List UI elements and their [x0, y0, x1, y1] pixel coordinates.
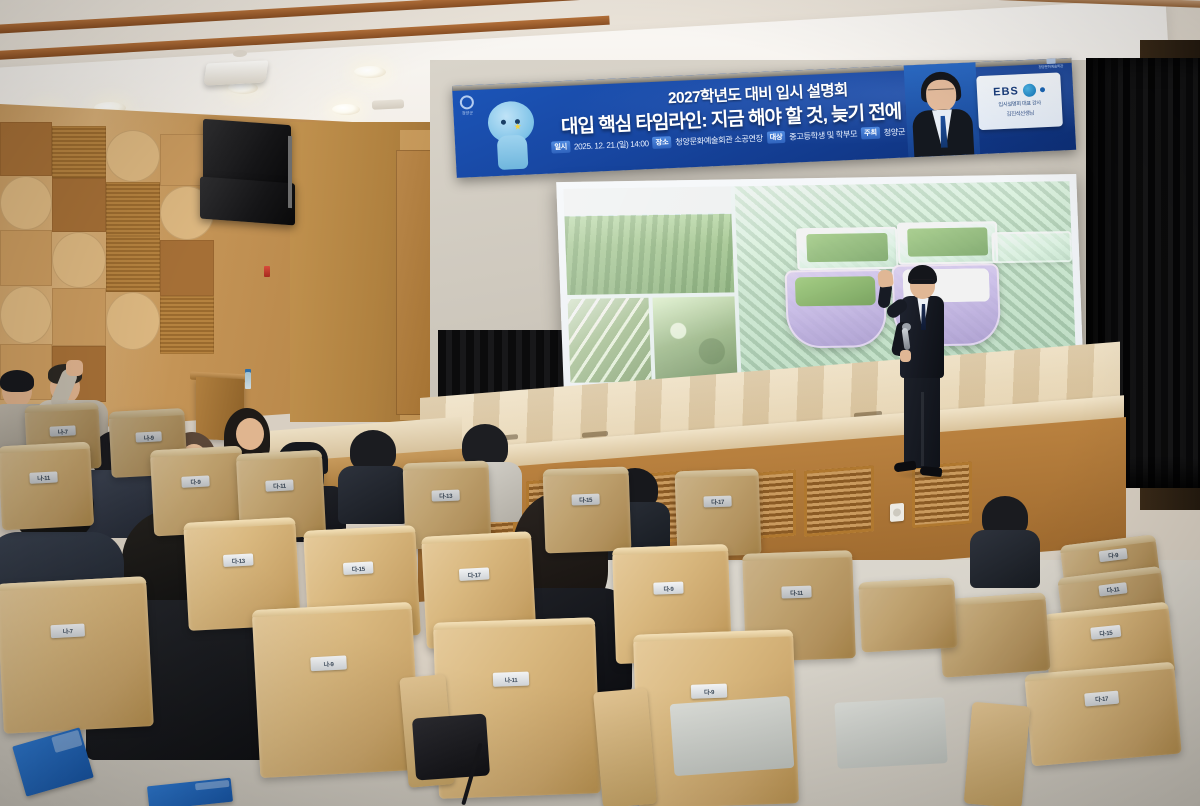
- seat-number-plate: 다-9: [653, 582, 683, 595]
- wall-panel: [106, 236, 160, 292]
- seat-number-plate: 다-13: [431, 490, 459, 502]
- venue-corner-logo: 청양문화예술회관: [1032, 58, 1069, 74]
- downlight-icon: [354, 66, 386, 78]
- wall-panel: [106, 130, 160, 182]
- power-outlet-icon: [890, 503, 904, 522]
- wall-panel: [52, 178, 106, 232]
- stage-vent-grille: [804, 465, 874, 537]
- auditorium-seat[interactable]: 나-7: [0, 576, 154, 734]
- crate-icon: [897, 221, 999, 265]
- seat-number-plate: 다-17: [703, 496, 731, 508]
- wall-panel: [0, 230, 52, 286]
- auditorium-seat[interactable]: 나-11: [0, 442, 94, 531]
- seat-cushion: [834, 697, 947, 769]
- info-tag-datetime: 일시: [551, 141, 570, 154]
- slide-photo-trees: [653, 296, 738, 382]
- venue-logo-mark: [1046, 58, 1056, 64]
- seat-number-plate: 다-11: [265, 479, 294, 491]
- wall-panel: [106, 182, 160, 236]
- mascot-icon: [481, 98, 545, 173]
- presenter: [880, 262, 960, 484]
- presenter-leg-split: [921, 392, 924, 466]
- seat-number-plate: 다-17: [459, 567, 490, 581]
- person-torso: [970, 530, 1040, 588]
- lecturer-photo: [904, 62, 981, 157]
- auditorium-seat[interactable]: [858, 578, 958, 653]
- seat-top-edge: [675, 469, 759, 479]
- venue-logo-label: 청양문화예술회관: [1033, 64, 1069, 71]
- lecturer-honorific: 선생님: [1020, 111, 1034, 118]
- slide-bottom-row: [567, 296, 737, 383]
- glasses-icon: [928, 88, 954, 95]
- person-hair: [0, 370, 34, 392]
- seat-number-plate: 다-11: [1098, 582, 1127, 596]
- seat-number-plate: 나-7: [49, 425, 75, 436]
- info-value-datetime: 2025. 12. 21.(일) 14:00: [574, 137, 649, 152]
- auditorium-seat[interactable]: 다-17: [1024, 662, 1181, 767]
- slide-photo-field: [563, 186, 734, 294]
- seat-number-plate: 다-17: [1084, 691, 1119, 707]
- basket-contents-green: [795, 276, 876, 307]
- wall-panel: [160, 240, 214, 296]
- auditorium-photo-scene: 청양군 2027학년도 대비 입시 설명회 대입 핵심 타임라인: 지금 해야 …: [0, 0, 1200, 806]
- audience-person: [972, 494, 1038, 586]
- ebs-logo: EBS: [993, 83, 1045, 98]
- ebs-lecturer-card: EBS 입시설명회 대표 강사 김진석선생님: [976, 72, 1063, 130]
- seat-number-plate: 나-9: [135, 431, 161, 442]
- seat-number-plate: 다-9: [181, 475, 210, 487]
- county-logo: 청양군: [457, 95, 478, 118]
- seat-cushion: [670, 696, 795, 776]
- county-logo-mark: [460, 95, 475, 110]
- wall-panel: [52, 288, 106, 346]
- ebs-lecturer-name: 김진석선생님: [1006, 107, 1034, 119]
- info-tag-audience: 대상: [766, 131, 785, 144]
- wall-panel: [0, 176, 52, 230]
- info-value-audience: 중고등학생 및 학부모: [789, 128, 858, 143]
- info-value-venue: 청양문화예술회관 소공연장: [675, 132, 763, 148]
- slide-left-column: [563, 186, 737, 382]
- ebs-circle-icon: [1022, 84, 1036, 98]
- speaker-icon: [200, 177, 295, 226]
- ebs-dot-icon: [1040, 87, 1045, 92]
- seat-number-plate: 다-9: [1099, 548, 1128, 562]
- info-tag-venue: 장소: [652, 136, 671, 149]
- presenter-raised-hand: [877, 269, 894, 287]
- ebs-wordmark: EBS: [993, 85, 1019, 98]
- ceiling-vent: [372, 99, 404, 110]
- seat-number-plate: 나-11: [29, 471, 58, 483]
- seat-number-plate: 다-15: [571, 494, 599, 506]
- mascot-body: [497, 135, 529, 170]
- speaker-mount: [288, 136, 292, 208]
- crate-contents: [907, 227, 988, 256]
- auditorium-seat[interactable]: 나-9: [252, 602, 421, 778]
- person-hand: [66, 360, 83, 376]
- slide-photo-plots: [567, 297, 652, 383]
- wall-panel: [106, 292, 160, 350]
- info-value-host: 청양군: [883, 125, 905, 138]
- wall-panel: [0, 122, 52, 176]
- seat-armrest: [593, 688, 657, 806]
- seat-number-plate: 다-13: [223, 553, 254, 567]
- seat-number-plate: 나-11: [493, 672, 529, 687]
- lecturer-name-text: 김진석: [1006, 111, 1020, 118]
- seat-number-plate: 나-9: [310, 655, 347, 671]
- wall-panel: [52, 126, 106, 178]
- person-torso: [338, 466, 408, 524]
- audience-person: [340, 428, 406, 524]
- seat-number-plate: 다-9: [691, 684, 727, 699]
- seat-armrest: [964, 702, 1031, 806]
- seat-number-plate: 다-15: [343, 561, 374, 575]
- water-bottle: [245, 372, 251, 389]
- exit-light-icon: [264, 266, 270, 277]
- glasses-icon: [911, 279, 934, 284]
- seat-number-plate: 다-15: [1090, 625, 1121, 640]
- seat-number-plate: 다-11: [781, 586, 811, 599]
- basket-icon: [784, 269, 887, 348]
- person-head: [236, 418, 264, 450]
- county-logo-label: 청양군: [457, 110, 477, 117]
- wall-panel: [0, 286, 52, 344]
- crate-icon: [991, 231, 1073, 263]
- wall-panel: [52, 232, 106, 288]
- downlight-icon: [332, 104, 360, 115]
- presenter-hand-holding-mic: [900, 350, 911, 362]
- seat-number-plate: 나-7: [50, 623, 85, 638]
- auditorium-seat[interactable]: 다-15: [543, 467, 632, 554]
- info-tag-host: 주최: [861, 127, 880, 140]
- crate-contents: [807, 233, 888, 262]
- wall-panel: [160, 296, 214, 354]
- projector-icon: [203, 60, 268, 85]
